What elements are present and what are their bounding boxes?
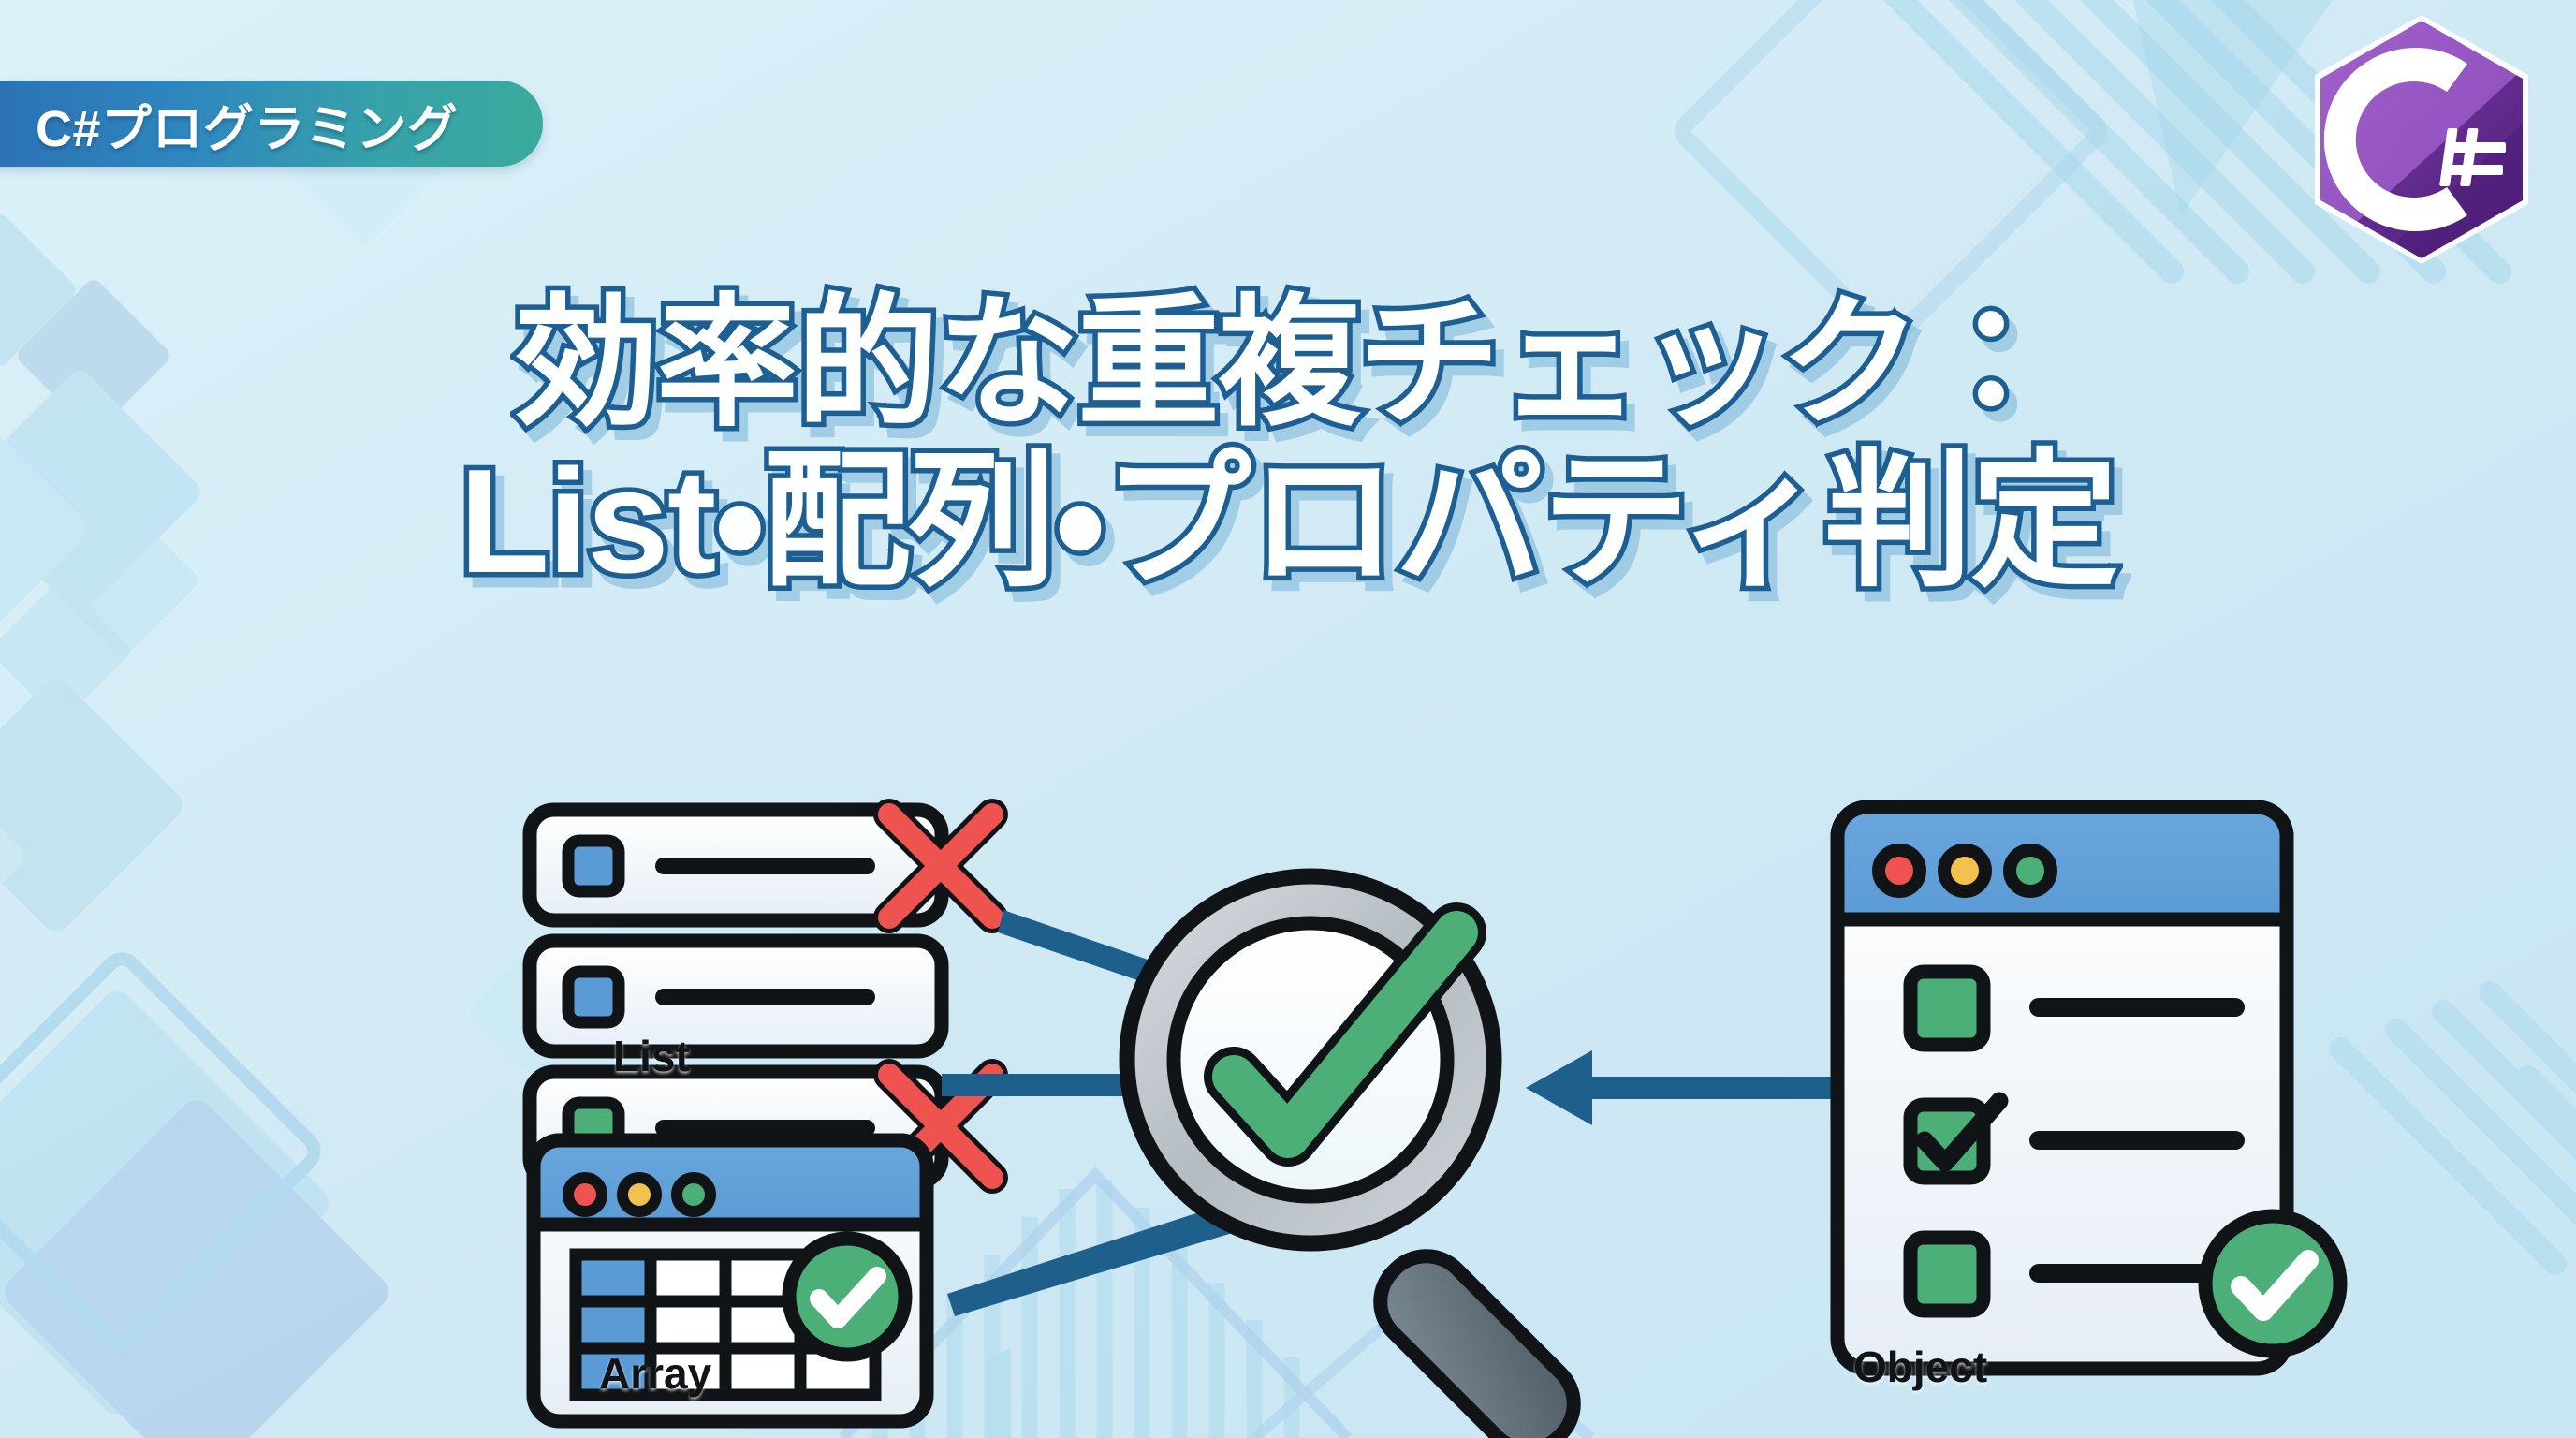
concept-diagram: List Array Object bbox=[0, 768, 2576, 1438]
thumbnail-canvas: C#プログラミング bbox=[0, 0, 2576, 1438]
table-window-icon bbox=[534, 1140, 927, 1421]
checklist-window-icon bbox=[1837, 807, 2340, 1369]
arrow-object-to-result bbox=[1526, 1050, 1831, 1125]
magnifier-check-icon bbox=[1127, 876, 1591, 1438]
list-label: List bbox=[613, 1031, 690, 1081]
green-check-circle bbox=[2205, 1216, 2340, 1351]
object-label: Object bbox=[1853, 1342, 1987, 1392]
page-title: 効率的な重複チェック： List・配列・プロパティ判定 bbox=[0, 292, 2576, 595]
category-badge-label: C#プログラミング bbox=[36, 87, 459, 161]
title-line-1: 効率的な重複チェック： bbox=[0, 292, 2576, 434]
category-badge: C#プログラミング bbox=[0, 81, 543, 167]
traffic-lights bbox=[1879, 850, 2051, 891]
list-rows-icon bbox=[530, 810, 942, 1182]
title-line-2: List・配列・プロパティ判定 bbox=[0, 448, 2576, 595]
array-label: Array bbox=[599, 1348, 711, 1399]
csharp-logo: C bbox=[2305, 13, 2539, 266]
traffic-lights bbox=[568, 1178, 710, 1211]
green-check-circle bbox=[789, 1239, 905, 1355]
magnifier-handle bbox=[1363, 1239, 1592, 1438]
